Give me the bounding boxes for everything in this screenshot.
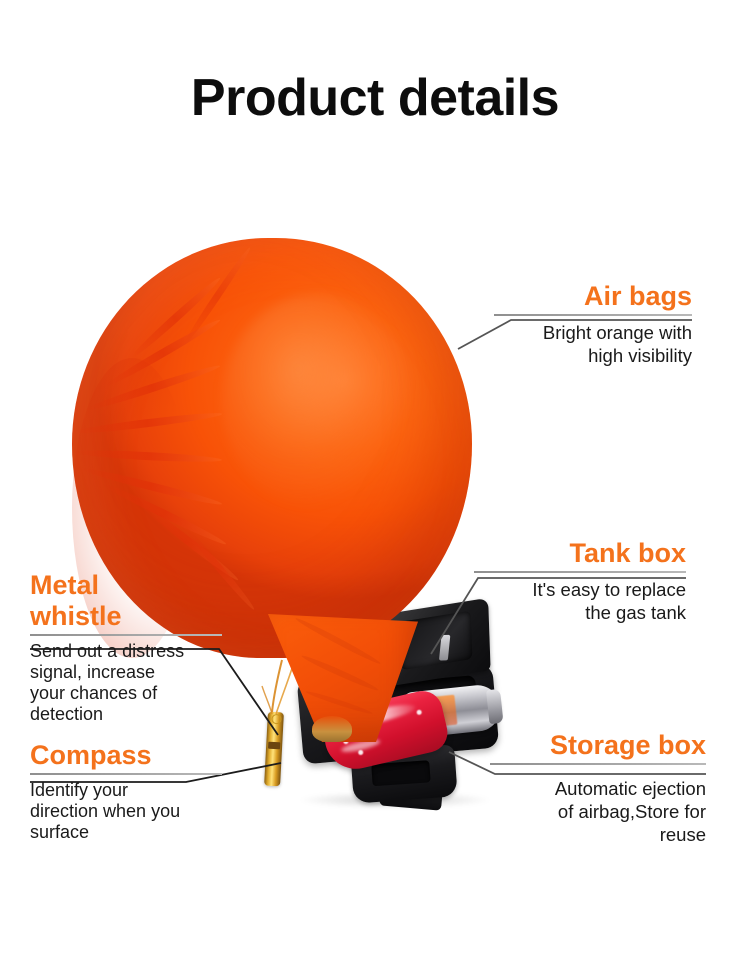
product-details-page: Product details [0,0,750,955]
callout-compass-rule [30,773,222,775]
airbag-highlight [222,294,412,509]
callout-air-bags-heading: Air bags [494,281,692,312]
callout-metal-whistle-rule [30,634,222,636]
callout-storage-box-body: Automatic ejection of airbag,Store for r… [490,777,706,847]
callout-air-bags: Air bags Bright orange with high visibil… [494,281,692,367]
callout-compass-heading: Compass [30,740,222,771]
callout-compass-body: Identify your direction when you surface [30,780,222,843]
callout-metal-whistle-heading: Metal whistle [30,570,222,632]
callout-tank-box-body: It's easy to replace the gas tank [474,578,686,625]
airbag-neck-valve [312,716,352,742]
callout-storage-box-heading: Storage box [490,730,706,761]
callout-tank-box-rule [474,571,686,573]
callout-metal-whistle-body: Send out a distress signal, increase you… [30,641,222,725]
callout-storage-box: Storage box Automatic ejection of airbag… [490,730,706,847]
callout-air-bags-rule [494,314,692,316]
callout-storage-box-rule [490,763,706,765]
callout-compass: Compass Identify your direction when you… [30,740,222,843]
callout-tank-box: Tank box It's easy to replace the gas ta… [474,538,686,624]
callout-air-bags-body: Bright orange with high visibility [494,321,692,368]
callout-tank-box-heading: Tank box [474,538,686,569]
callout-metal-whistle: Metal whistle Send out a distress signal… [30,570,222,725]
